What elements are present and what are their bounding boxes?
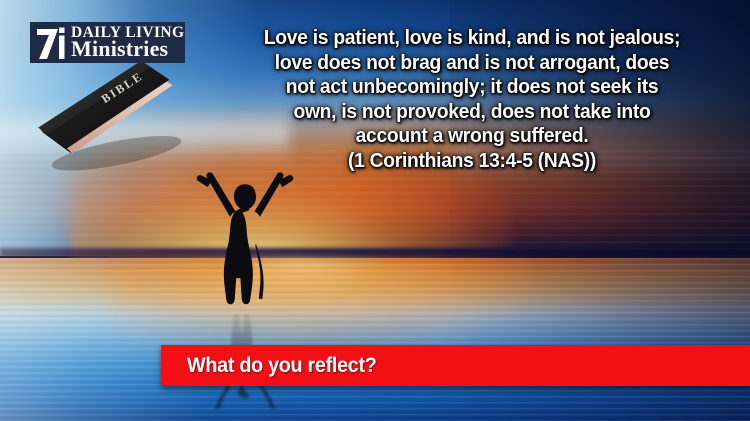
verse-line: Love is patient, love is kind, and is no…: [214, 26, 729, 51]
woman-arms-raised-silhouette: [185, 152, 305, 342]
verse-citation: (1 Corinthians 13:4-5 (NAS)): [214, 149, 729, 174]
seven-i-cross-icon: [36, 26, 68, 60]
verse-line: not act unbecomingly; it does not seek i…: [214, 75, 729, 100]
daily-living-ministries-logo[interactable]: DAILY LIVING Ministries: [30, 22, 185, 63]
verse-line: own, is not provoked, does not take into: [214, 100, 729, 125]
call-to-action-banner: What do you reflect?: [161, 345, 750, 386]
water-ripples: [0, 258, 750, 421]
logo-line-2: Ministries: [71, 38, 184, 60]
verse-line: love does not brag and is not arrogant, …: [214, 51, 729, 76]
devotional-graphic: BIBLE DAILY LIVING Ministries Love is pa…: [0, 0, 750, 421]
logo-wordmark: DAILY LIVING Ministries: [71, 25, 184, 61]
banner-question-text: What do you reflect?: [187, 354, 377, 378]
verse-line: account a wrong suffered.: [214, 124, 729, 149]
scripture-verse-text: Love is patient, love is kind, and is no…: [214, 26, 729, 173]
